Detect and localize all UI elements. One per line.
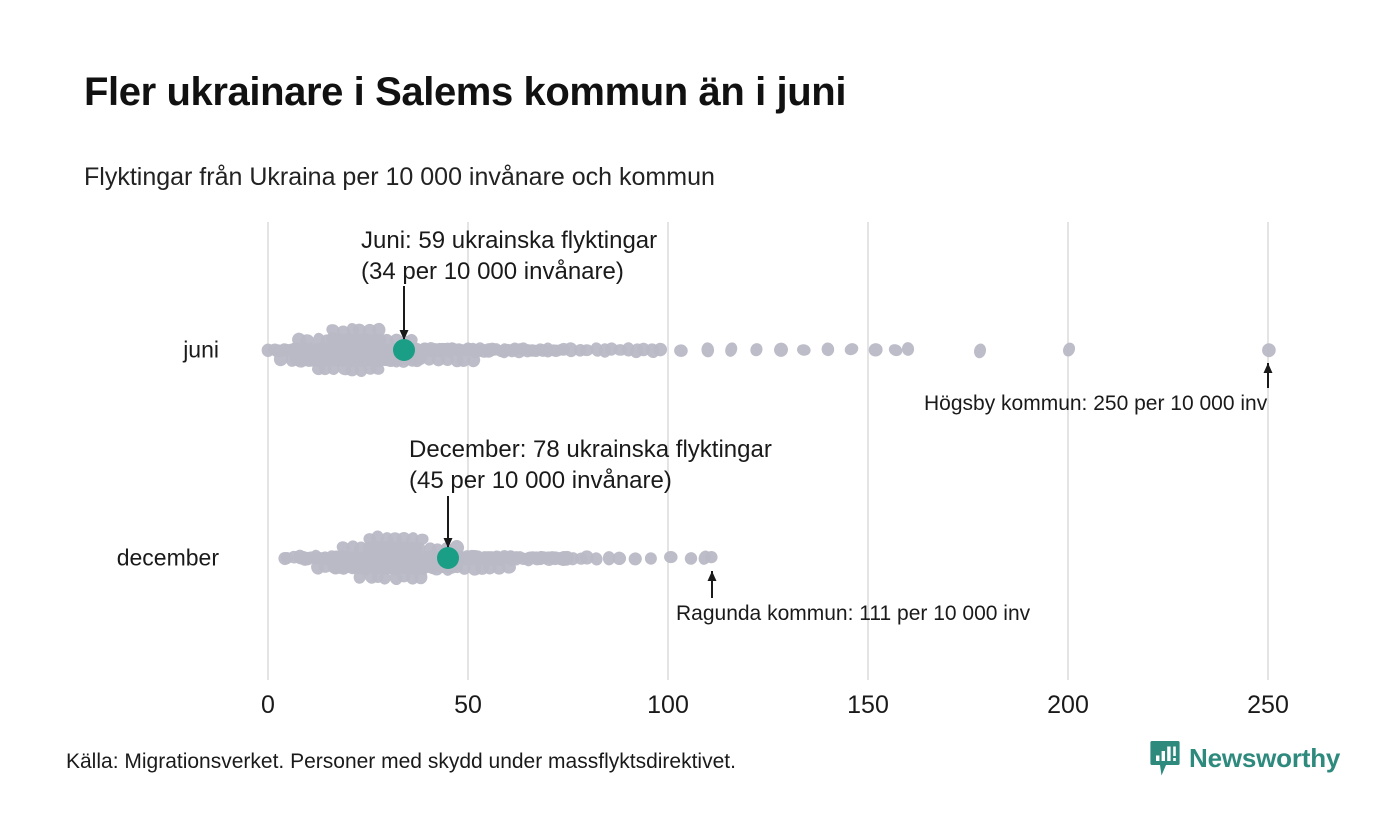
xtick-label-50: 50	[454, 691, 482, 720]
row-label-juni: juni	[183, 337, 219, 364]
callout-ragunda: Ragunda kommun: 111 per 10 000 inv	[676, 602, 1030, 626]
xtick-label-250: 250	[1247, 691, 1289, 720]
newsworthy-logo-text: Newsworthy	[1189, 743, 1340, 774]
xtick-label-0: 0	[261, 691, 275, 720]
annotation-juni-line1: Juni: 59 ukrainska flyktingar	[361, 226, 657, 257]
newsworthy-logo[interactable]: Newsworthy	[1150, 740, 1340, 777]
swarm-juni	[261, 321, 1275, 378]
callout-hogsby: Högsby kommun: 250 per 10 000 inv	[924, 392, 1267, 416]
swarm-december	[277, 530, 719, 587]
annotation-juni: Juni: 59 ukrainska flyktingar (34 per 10…	[361, 226, 657, 287]
xtick-label-150: 150	[847, 691, 889, 720]
chart-subtitle: Flyktingar från Ukraina per 10 000 invån…	[84, 163, 715, 192]
xtick-label-100: 100	[647, 691, 689, 720]
annotation-juni-line2: (34 per 10 000 invånare)	[361, 257, 657, 288]
annotation-december: December: 78 ukrainska flyktingar (45 pe…	[409, 435, 772, 496]
annotation-december-line2: (45 per 10 000 invånare)	[409, 466, 772, 497]
source-note: Källa: Migrationsverket. Personer med sk…	[66, 750, 736, 774]
chart-title: Fler ukrainare i Salems kommun än i juni	[84, 70, 846, 115]
newsworthy-bubble-chart-icon	[1150, 740, 1180, 777]
annotation-december-line1: December: 78 ukrainska flyktingar	[409, 435, 772, 466]
row-label-december: december	[117, 545, 219, 572]
xtick-label-200: 200	[1047, 691, 1089, 720]
